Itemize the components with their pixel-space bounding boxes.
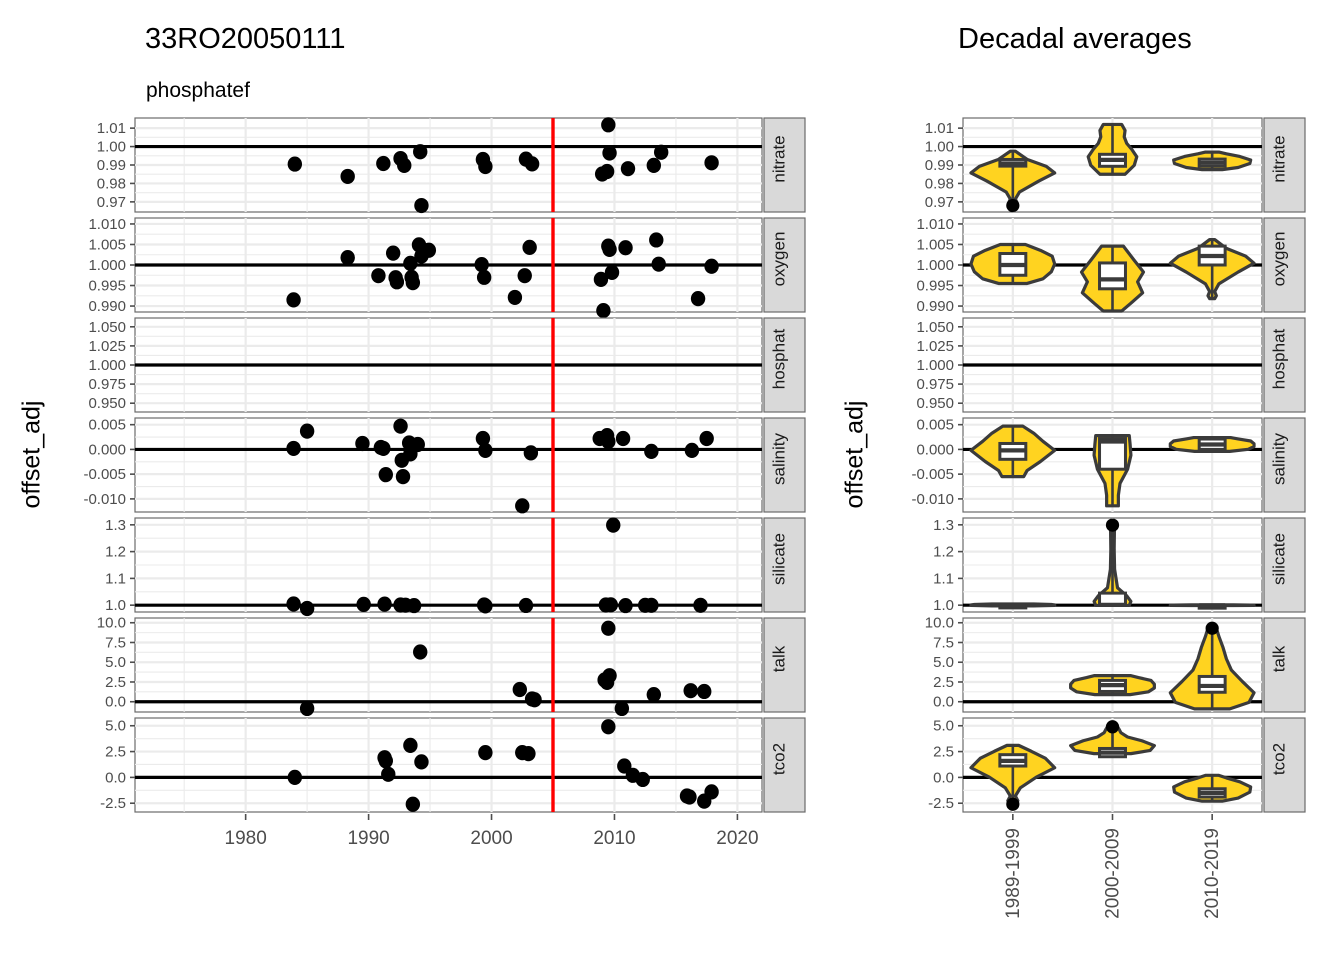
data-point — [647, 687, 661, 702]
y-tick-label: 0.97 — [925, 194, 954, 211]
data-point — [379, 467, 393, 482]
data-point — [477, 270, 491, 285]
y-tick-label: 1.01 — [97, 120, 126, 137]
left-panel-title: 33RO20050111 — [145, 23, 345, 56]
data-point — [396, 469, 410, 484]
data-point — [518, 268, 532, 283]
x-tick-label: 1990 — [347, 828, 389, 849]
y-tick-label: 0.99 — [97, 157, 126, 174]
y-tick-label: 0.950 — [916, 395, 954, 412]
data-point — [355, 436, 369, 451]
data-point — [601, 117, 615, 132]
data-point — [386, 245, 400, 260]
y-tick-label: -0.010 — [911, 491, 954, 508]
x-tick-label: 1989-1999 — [1003, 828, 1024, 919]
strip-label: salinity — [1270, 433, 1289, 485]
data-point — [286, 596, 300, 611]
y-tick-label: 1.050 — [88, 319, 126, 336]
data-point — [288, 156, 302, 171]
data-point — [414, 754, 428, 769]
left-panel-subtitle: phosphatef — [146, 79, 250, 103]
y-tick-label: 10.0 — [97, 615, 126, 632]
violin-outlier — [1006, 199, 1019, 212]
y-tick-label: 0.98 — [97, 175, 126, 192]
y-tick-label: 0.005 — [916, 417, 954, 434]
data-point — [601, 621, 615, 636]
right-y-axis-label: offset_adj — [841, 395, 870, 515]
strip-label: hosphat — [1270, 328, 1289, 389]
y-tick-label: -0.005 — [911, 466, 954, 483]
y-tick-label: 1.3 — [105, 517, 126, 534]
data-point — [300, 424, 314, 439]
y-tick-label: 0.990 — [916, 298, 954, 315]
strip-label: silicate — [770, 533, 789, 585]
y-tick-label: 1.025 — [916, 338, 954, 355]
boxplot-box — [1100, 263, 1126, 289]
y-tick-label: -0.010 — [83, 491, 126, 508]
y-tick-label: 0.995 — [916, 278, 954, 295]
y-tick-label: 1.00 — [97, 139, 126, 156]
y-tick-label: 5.0 — [105, 718, 126, 735]
strip-label: talk — [770, 645, 789, 672]
strip-label: salinity — [770, 433, 789, 485]
y-tick-label: 5.0 — [933, 654, 954, 671]
data-point — [704, 155, 718, 170]
data-point — [521, 746, 535, 761]
data-point — [601, 719, 615, 734]
strip-label: oxygen — [770, 232, 789, 287]
y-tick-label: 0.990 — [88, 298, 126, 315]
data-point — [377, 596, 391, 611]
y-tick-label: 1.000 — [88, 357, 126, 374]
data-point — [413, 144, 427, 159]
y-tick-label: 0.000 — [88, 441, 126, 458]
data-point — [525, 156, 539, 171]
violin-outlier — [1106, 518, 1119, 531]
data-point — [371, 268, 385, 283]
y-tick-label: 1.2 — [105, 544, 126, 561]
data-point — [600, 164, 614, 179]
y-tick-label: 1.01 — [925, 120, 954, 137]
y-tick-label: 1.000 — [88, 257, 126, 274]
x-tick-label: 2010 — [593, 828, 635, 849]
y-tick-label: 1.010 — [88, 216, 126, 233]
data-point — [615, 701, 629, 716]
data-point — [654, 145, 668, 160]
data-point — [376, 441, 390, 456]
y-tick-label: 1.050 — [916, 319, 954, 336]
violin-outlier — [1206, 622, 1219, 635]
y-tick-label: 7.5 — [105, 634, 126, 651]
y-tick-label: 0.98 — [925, 175, 954, 192]
data-point — [697, 684, 711, 699]
data-point — [606, 517, 620, 532]
data-point — [478, 745, 492, 760]
data-point — [422, 243, 436, 258]
y-tick-label: -2.5 — [100, 795, 126, 812]
data-point — [616, 431, 630, 446]
data-point — [513, 682, 527, 697]
data-point — [693, 598, 707, 613]
data-point — [602, 145, 616, 160]
y-tick-label: 1.3 — [933, 517, 954, 534]
data-point — [601, 434, 615, 449]
data-point — [340, 169, 354, 184]
y-tick-label: 1.005 — [916, 236, 954, 253]
data-point — [605, 265, 619, 280]
data-point — [393, 419, 407, 434]
y-tick-label: 0.0 — [933, 694, 954, 711]
data-point — [621, 161, 635, 176]
data-point — [691, 291, 705, 306]
y-tick-label: 1.0 — [105, 597, 126, 614]
strip-label: talk — [1270, 645, 1289, 672]
left-y-axis-label: offset_adj — [18, 395, 47, 515]
y-tick-label: 5.0 — [105, 654, 126, 671]
data-point — [288, 770, 302, 785]
data-point — [515, 498, 529, 513]
data-point — [406, 797, 420, 812]
y-tick-label: 0.000 — [916, 441, 954, 458]
y-tick-label: 0.950 — [88, 395, 126, 412]
data-point — [522, 240, 536, 255]
data-point — [376, 156, 390, 171]
data-point — [474, 257, 488, 272]
data-point — [413, 644, 427, 659]
data-point — [527, 692, 541, 707]
y-tick-label: 10.0 — [925, 615, 954, 632]
data-point — [618, 598, 632, 613]
y-tick-label: 1.00 — [925, 139, 954, 156]
data-point — [649, 232, 663, 247]
data-point — [519, 598, 533, 613]
data-point — [411, 437, 425, 452]
data-point — [286, 292, 300, 307]
data-point — [286, 441, 300, 456]
y-tick-label: 0.99 — [925, 157, 954, 174]
data-point — [636, 772, 650, 787]
data-point — [618, 240, 632, 255]
strip-label: tco2 — [1270, 743, 1289, 775]
data-point — [644, 598, 658, 613]
strip-label: tco2 — [770, 743, 789, 775]
strip-label: silicate — [1270, 533, 1289, 585]
data-point — [397, 158, 411, 173]
x-tick-label: 1980 — [225, 828, 267, 849]
data-point — [604, 597, 618, 612]
data-point — [596, 303, 610, 318]
y-tick-label: 0.0 — [105, 694, 126, 711]
y-tick-label: 1.0 — [933, 597, 954, 614]
y-tick-label: 1.000 — [916, 357, 954, 374]
y-tick-label: 0.97 — [97, 194, 126, 211]
data-point — [647, 158, 661, 173]
y-tick-label: 0.995 — [88, 278, 126, 295]
data-point — [704, 259, 718, 274]
data-point — [414, 198, 428, 213]
y-tick-label: 0.975 — [88, 376, 126, 393]
data-point — [682, 789, 696, 804]
data-point — [379, 753, 393, 768]
data-point — [478, 159, 492, 174]
x-tick-label: 2000 — [470, 828, 512, 849]
y-tick-label: -0.005 — [83, 466, 126, 483]
right-panel-title: Decadal averages — [958, 23, 1192, 56]
data-point — [407, 598, 421, 613]
data-point — [602, 668, 616, 683]
y-tick-label: 0.0 — [933, 769, 954, 786]
data-point — [340, 250, 354, 265]
strip-label: oxygen — [1270, 232, 1289, 287]
strip-label: nitrate — [770, 135, 789, 182]
data-point — [699, 431, 713, 446]
data-point — [403, 738, 417, 753]
y-tick-label: 0.0 — [105, 769, 126, 786]
y-tick-label: 1.025 — [88, 338, 126, 355]
plot-canvas: nitrate1.011.000.990.980.97nitrate1.011.… — [0, 0, 1344, 960]
data-point — [685, 443, 699, 458]
x-tick-label: 2020 — [716, 828, 758, 849]
y-tick-label: 2.5 — [105, 744, 126, 761]
violin-outlier — [1106, 720, 1119, 733]
y-tick-label: 1.010 — [916, 216, 954, 233]
data-point — [602, 242, 616, 257]
strip-label: nitrate — [1270, 135, 1289, 182]
violin-outlier — [1006, 798, 1019, 811]
data-point — [508, 290, 522, 305]
data-point — [381, 767, 395, 782]
y-tick-label: 7.5 — [933, 634, 954, 651]
data-point — [524, 445, 538, 460]
y-tick-label: 2.5 — [933, 744, 954, 761]
data-point — [704, 784, 718, 799]
data-point — [406, 275, 420, 290]
x-tick-label: 2000-2009 — [1103, 828, 1124, 919]
data-point — [390, 274, 404, 289]
data-point — [683, 683, 697, 698]
y-tick-label: 1.005 — [88, 236, 126, 253]
data-point — [300, 701, 314, 716]
strip-label: hosphat — [770, 328, 789, 389]
y-tick-label: 1.1 — [105, 570, 126, 587]
y-tick-label: -2.5 — [928, 795, 954, 812]
y-tick-label: 0.975 — [916, 376, 954, 393]
data-point — [300, 601, 314, 616]
y-tick-label: 5.0 — [933, 718, 954, 735]
y-tick-label: 1.2 — [933, 544, 954, 561]
figure-root: 33RO20050111 phosphatef Decadal averages… — [0, 0, 1344, 960]
data-point — [478, 598, 492, 613]
data-point — [356, 597, 370, 612]
y-tick-label: 2.5 — [105, 674, 126, 691]
data-point — [644, 444, 658, 459]
x-tick-label: 2010-2019 — [1202, 828, 1223, 919]
y-tick-label: 1.000 — [916, 257, 954, 274]
data-point — [652, 257, 666, 272]
y-tick-label: 1.1 — [933, 570, 954, 587]
y-tick-label: 0.005 — [88, 417, 126, 434]
data-point — [478, 443, 492, 458]
y-tick-label: 2.5 — [933, 674, 954, 691]
